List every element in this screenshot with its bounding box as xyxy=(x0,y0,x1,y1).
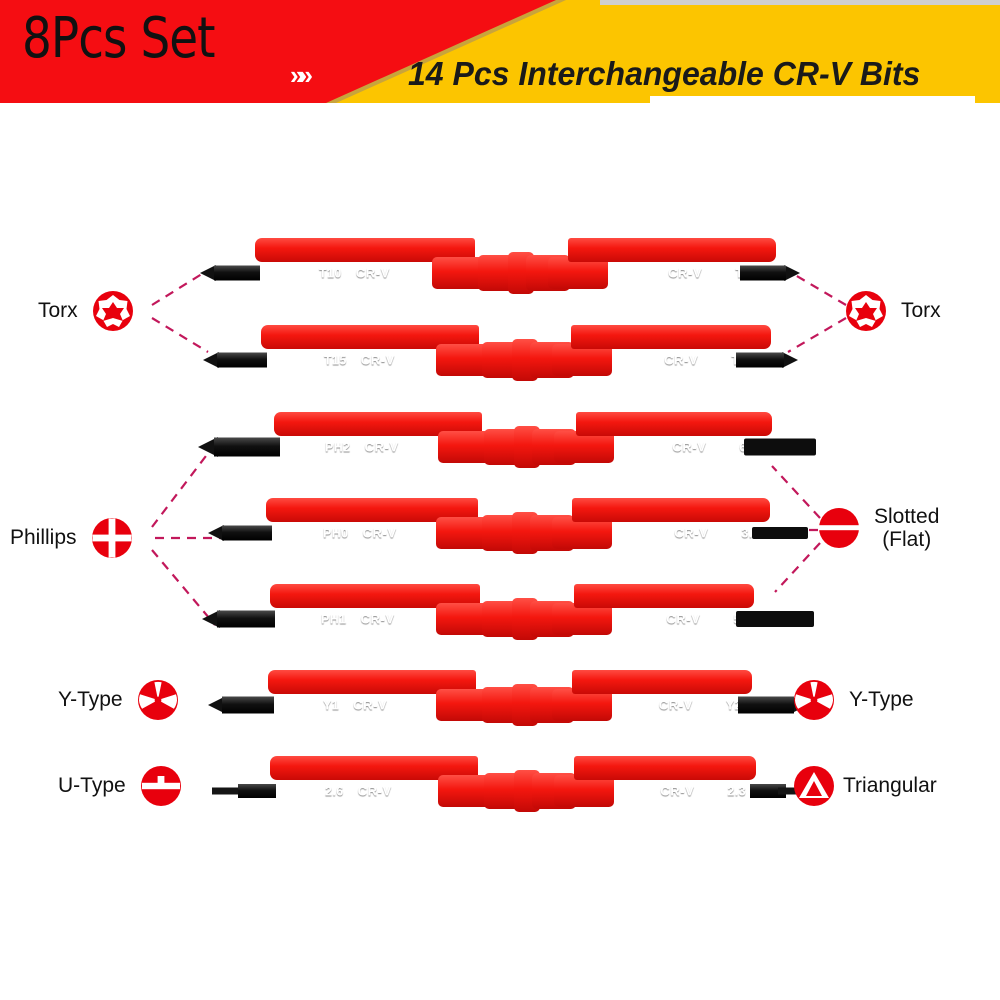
category-label-line2: (Flat) xyxy=(874,528,939,551)
promo-banner: 8Pcs Set »» 14 Pcs Interchangeable CR-V … xyxy=(0,0,1000,103)
shaft-mark-left-row3: PH2 CR-V xyxy=(306,440,399,455)
shaft-mark-right-row7: CR-V 2.3 xyxy=(660,784,746,799)
brand-right-row4: CR-V xyxy=(674,526,708,541)
bit-tip-torx-t15 xyxy=(203,340,263,380)
brand-left-row3: CR-V xyxy=(365,440,399,455)
chevron-right-icon: »» xyxy=(290,60,307,91)
bit-tip-torx-t20 xyxy=(744,253,800,293)
tool-row-3[interactable]: PH2 CR-V CR-V 6.0 xyxy=(198,412,816,482)
leader-torx-left-row1 xyxy=(152,272,205,305)
phillips-symbol-icon xyxy=(306,440,321,455)
torx-symbol-icon xyxy=(716,266,731,281)
grip-right-row5 xyxy=(574,584,754,608)
bit-code-left-row1: T10 xyxy=(319,266,342,280)
tool-row-4[interactable]: PH0 CR-V CR-V 3.0 xyxy=(208,498,808,568)
utype-badge-icon xyxy=(140,765,182,807)
bit-tip-utype-26 xyxy=(212,776,272,806)
bit-tip-ytype-y1 xyxy=(208,685,270,725)
tool-row-1[interactable]: T10 CR-V CR-V T20 xyxy=(200,238,800,308)
bit-tip-flat-30 xyxy=(752,513,808,553)
brand-right-row1: CR-V xyxy=(668,266,702,281)
category-label: Y-Type xyxy=(849,688,914,711)
coupler-row5 xyxy=(436,601,596,637)
category-left-torx[interactable]: Torx xyxy=(38,290,134,332)
slotted-symbol-icon xyxy=(714,612,729,627)
brand-left-row6: CR-V xyxy=(353,698,387,713)
category-left-ytype[interactable]: Y-Type xyxy=(58,679,179,721)
torx-star-badge-icon xyxy=(92,290,134,332)
brand-right-row5: CR-V xyxy=(666,612,700,627)
shaft-mark-left-row6: Y1 CR-V xyxy=(304,698,387,713)
shaft-mark-left-row4: PH0 CR-V xyxy=(304,526,397,541)
torx-star-badge-icon xyxy=(845,290,887,332)
ytype-badge-icon xyxy=(137,679,179,721)
bit-tip-phillips-ph1 xyxy=(202,599,272,639)
shaft-mark-left-row1: T10 CR-V xyxy=(300,266,390,281)
category-left-phillips[interactable]: Phillips xyxy=(10,517,133,559)
triangular-symbol-icon xyxy=(708,784,723,799)
brand-right-row2: CR-V xyxy=(664,353,698,368)
category-label: Slotted (Flat) xyxy=(874,505,939,551)
phillips-symbol-icon xyxy=(302,612,317,627)
tool-row-7[interactable]: 2.6 CR-V CR-V 2.3 xyxy=(212,756,808,826)
bit-code-right-row7: 2.3 xyxy=(727,784,746,798)
bit-code-left-row5: PH1 xyxy=(321,612,347,626)
tool-row-2[interactable]: T15 CR-V CR-V T25 xyxy=(203,325,798,395)
bit-tip-phillips-ph0 xyxy=(208,513,268,553)
grip-right-row6 xyxy=(572,670,752,694)
category-right-slotted[interactable]: Slotted (Flat) xyxy=(818,505,939,551)
bit-code-left-row7: 2.6 xyxy=(325,784,344,798)
banner-underline xyxy=(650,96,975,103)
bit-code-left-row4: PH0 xyxy=(323,526,349,540)
category-label: Torx xyxy=(38,299,78,322)
bit-tip-torx-t25 xyxy=(740,340,798,380)
slotted-symbol-icon xyxy=(722,526,737,541)
brand-right-row6: CR-V xyxy=(659,698,693,713)
category-label: Phillips xyxy=(10,526,77,549)
shaft-mark-left-row2: T15 CR-V xyxy=(305,353,395,368)
tool-row-5[interactable]: PH1 CR-V CR-V 5.0 xyxy=(202,584,814,654)
category-label: Torx xyxy=(901,299,941,322)
ytype-symbol-icon xyxy=(304,698,319,713)
category-left-utype[interactable]: U-Type xyxy=(58,765,182,807)
slotted-symbol-icon xyxy=(720,440,735,455)
shaft-mark-left-row7: 2.6 CR-V xyxy=(306,784,392,799)
brand-left-row1: CR-V xyxy=(356,266,390,281)
bit-tip-flat-60 xyxy=(744,427,816,467)
category-label: U-Type xyxy=(58,774,126,797)
ytype-badge-icon xyxy=(793,679,835,721)
leader-torx-left-row2 xyxy=(152,318,208,352)
torx-symbol-icon xyxy=(300,266,315,281)
grip-right-row7 xyxy=(574,756,756,780)
brand-right-row7: CR-V xyxy=(660,784,694,799)
category-right-ytype[interactable]: Y-Type xyxy=(793,679,914,721)
tool-row-6[interactable]: Y1 CR-V CR-V Y2 xyxy=(208,670,808,740)
brand-left-row4: CR-V xyxy=(363,526,397,541)
category-label-line1: Slotted xyxy=(874,505,939,528)
shaft-mark-left-row5: PH1 CR-V xyxy=(302,612,395,627)
torx-symbol-icon xyxy=(712,353,727,368)
category-label: Y-Type xyxy=(58,688,123,711)
bit-tip-phillips-ph2 xyxy=(198,427,276,467)
bit-code-left-row6: Y1 xyxy=(323,698,339,712)
brand-left-row7: CR-V xyxy=(358,784,392,799)
bit-tip-flat-50 xyxy=(736,599,814,639)
brand-left-row5: CR-V xyxy=(361,612,395,627)
bit-code-left-row2: T15 xyxy=(324,353,347,367)
ytype-symbol-icon xyxy=(707,698,722,713)
grip-right-row4 xyxy=(572,498,770,522)
brand-right-row3: CR-V xyxy=(672,440,706,455)
grip-right-row3 xyxy=(576,412,772,436)
shaft-mark-right-row4: CR-V 3.0 xyxy=(674,526,760,541)
category-right-torx[interactable]: Torx xyxy=(845,290,941,332)
phillips-cross-badge-icon xyxy=(91,517,133,559)
torx-symbol-icon xyxy=(305,353,320,368)
slotted-badge-icon xyxy=(818,507,860,549)
bit-code-left-row3: PH2 xyxy=(325,440,351,454)
utype-symbol-icon xyxy=(306,784,321,799)
phillips-symbol-icon xyxy=(304,526,319,541)
banner-subtitle: 14 Pcs Interchangeable CR-V Bits xyxy=(408,55,920,93)
brand-left-row2: CR-V xyxy=(361,353,395,368)
shaft-mark-right-row6: CR-V Y2 xyxy=(659,698,742,713)
category-label: Triangular xyxy=(843,774,937,797)
bit-tip-torx-t10 xyxy=(200,253,256,293)
category-right-triangular[interactable]: Triangular xyxy=(793,765,937,807)
coupler-row3 xyxy=(438,429,598,465)
banner-top-strip xyxy=(600,0,1000,5)
triangular-badge-icon xyxy=(793,765,835,807)
banner-title: 8Pcs Set xyxy=(22,6,215,71)
